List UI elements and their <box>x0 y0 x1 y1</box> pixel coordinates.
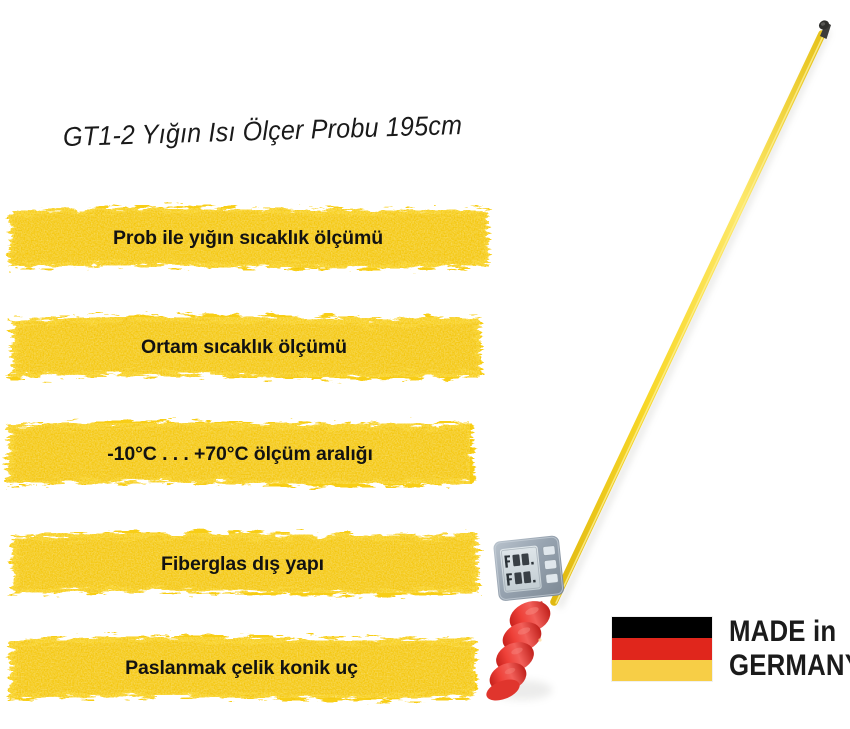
badge-line-made-in: MADE in <box>729 617 850 647</box>
feature-label: Ortam sıcaklık ölçümü <box>141 336 347 359</box>
made-in-germany-badge: MADE in GERMANY <box>612 617 850 681</box>
feature-item-3: -10°C . . . +70°C ölçüm aralığı <box>0 411 480 497</box>
lcd-display <box>500 545 542 593</box>
feature-item-4: Fiberglas dış yapı <box>0 521 485 607</box>
germany-flag-icon <box>612 617 712 681</box>
feature-label: Paslanmak çelik konik uç <box>125 657 358 680</box>
flag-band-gold <box>612 660 712 681</box>
fiberglass-rod <box>554 34 824 603</box>
meter-button-3 <box>546 573 559 583</box>
badge-line-germany: GERMANY <box>729 651 850 681</box>
feature-item-5: Paslanmak çelik konik uç <box>0 625 483 711</box>
feature-label: -10°C . . . +70°C ölçüm aralığı <box>107 443 373 466</box>
feature-label: Fiberglas dış yapı <box>161 553 324 576</box>
badge-text: MADE in GERMANY <box>729 617 850 681</box>
feature-item-1: Prob ile yığın sıcaklık ölçümü <box>0 196 496 280</box>
flag-band-red <box>612 638 712 659</box>
page-title: GT1-2 Yığın Isı Ölçer Probu 195cm <box>63 110 463 153</box>
digital-meter <box>493 535 565 602</box>
meter-button-2 <box>544 559 557 569</box>
product-feature-graphic: GT1-2 Yığın Isı Ölçer Probu 195cm <box>0 0 850 729</box>
feature-item-2: Ortam sıcaklık ölçümü <box>0 305 488 389</box>
flag-band-black <box>612 617 712 638</box>
probe-thermometer-image <box>470 0 850 720</box>
meter-button-1 <box>543 546 556 556</box>
feature-label: Prob ile yığın sıcaklık ölçümü <box>113 227 383 250</box>
rod-shadow <box>560 33 827 605</box>
